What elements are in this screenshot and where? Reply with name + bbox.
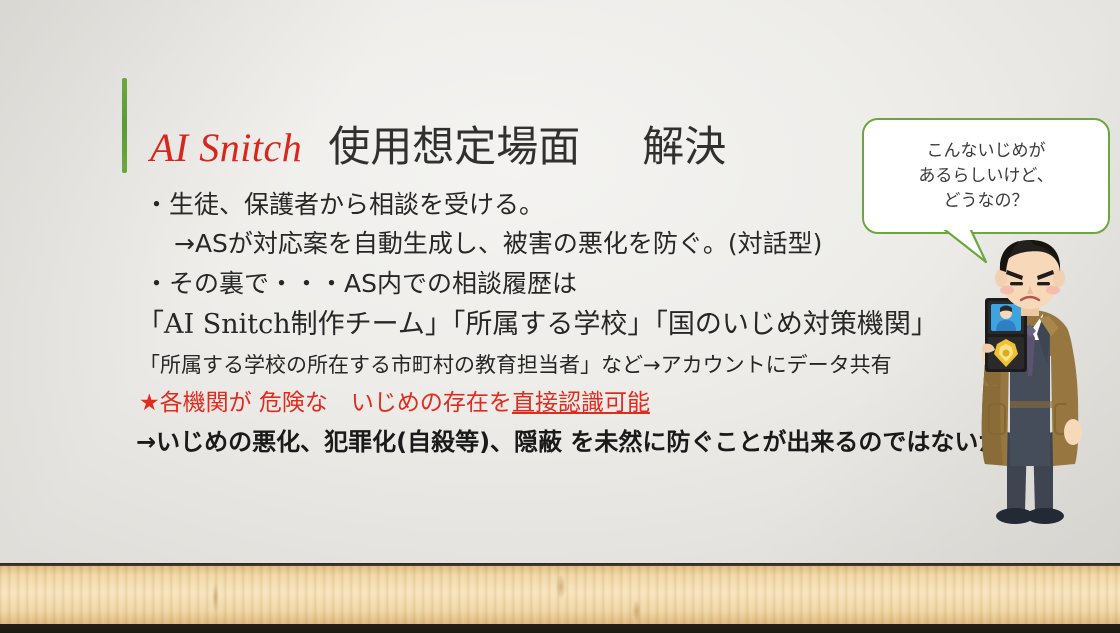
wood-knot [212,582,219,612]
floor-wood-surface [0,566,1120,624]
body-line-7-conclusion: →いじめの悪化、犯罪化(自殺等)、隠蔽 を未然に防ぐことが出来るのではないか. [136,422,974,462]
presentation-slide: AI Snitch 使用想定場面 解決 ・生徒、保護者から相談を受ける。 →AS… [0,0,1120,633]
body-line-6-highlight: ★各機関が 危険な いじめの存在を直接認識可能 [139,384,974,422]
title-japanese-main-text: 使用想定場面 [328,113,580,174]
wood-knot [632,600,641,622]
speech-bubble-line-3: どうなの？ [944,189,1029,214]
floor-bottom-edge [0,624,1120,633]
wooden-floor-band [0,563,1120,633]
page-title: AI Snitch 使用想定場面 解決 [150,113,726,174]
title-english-text: AI Snitch [150,124,302,171]
title-japanese-sub-text: 解決 [642,113,726,174]
body-line-5-data-sharing: 「所属する学校の所在する市町村の教育担当者」など→アカウントにデータ共有 [139,346,974,384]
detective-character-illustration [955,236,1105,541]
body-line-2: →ASが対応案を自動生成し、被害の悪化を防ぐ。(対話型) [144,224,974,264]
speech-bubble: こんないじめが あるらしいけど、 どうなの？ [862,118,1110,234]
body-line-1: ・生徒、保護者から相談を受ける。 [144,186,974,224]
body-line-4-organizations: 「AI Snitch制作チーム」「所属する学校」「国のいじめ対策機関」 [137,304,974,346]
body-line-6-underlined: 直接認識可能 [512,390,650,416]
speech-bubble-line-2: あるらしいけど、 [918,164,1053,189]
speech-bubble-line-1: こんないじめが [927,139,1046,164]
title-accent-bar [122,78,127,173]
body-line-3: ・その裏で・・・AS内での相談履歴は [144,264,974,304]
body-line-6-prefix: ★各機関が 危険な いじめの存在を [139,390,512,416]
slide-body-content: ・生徒、保護者から相談を受ける。 →ASが対応案を自動生成し、被害の悪化を防ぐ。… [144,186,974,462]
wood-knot [556,574,566,600]
speech-bubble-tail-icon [940,226,990,266]
